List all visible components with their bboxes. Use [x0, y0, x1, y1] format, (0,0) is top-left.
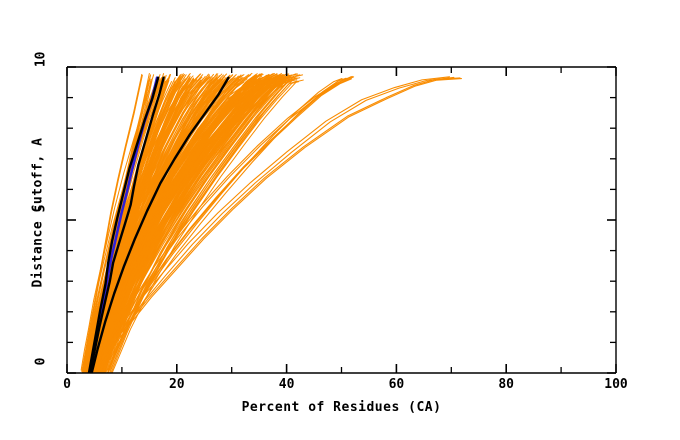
x-tick-label-100: 100	[594, 377, 638, 392]
x-tick-label-60: 60	[374, 377, 418, 392]
x-axis-label: Percent of Residues (CA)	[67, 400, 616, 415]
y-tick-label-0: 0	[34, 358, 49, 388]
y-axis-label: Distance Cutoff, A	[31, 113, 46, 313]
chart-screenshot: T0987 020406080100 0510 Percent of Resid…	[0, 0, 680, 440]
x-tick-label-40: 40	[265, 377, 309, 392]
plot-canvas	[0, 0, 680, 440]
y-tick-label-10: 10	[34, 52, 49, 82]
x-tick-label-0: 0	[45, 377, 89, 392]
x-tick-label-20: 20	[155, 377, 199, 392]
plot-clip-mask	[0, 0, 680, 440]
curves-layer	[81, 73, 461, 377]
axis-frame-layer	[0, 0, 680, 440]
x-tick-label-80: 80	[484, 377, 528, 392]
